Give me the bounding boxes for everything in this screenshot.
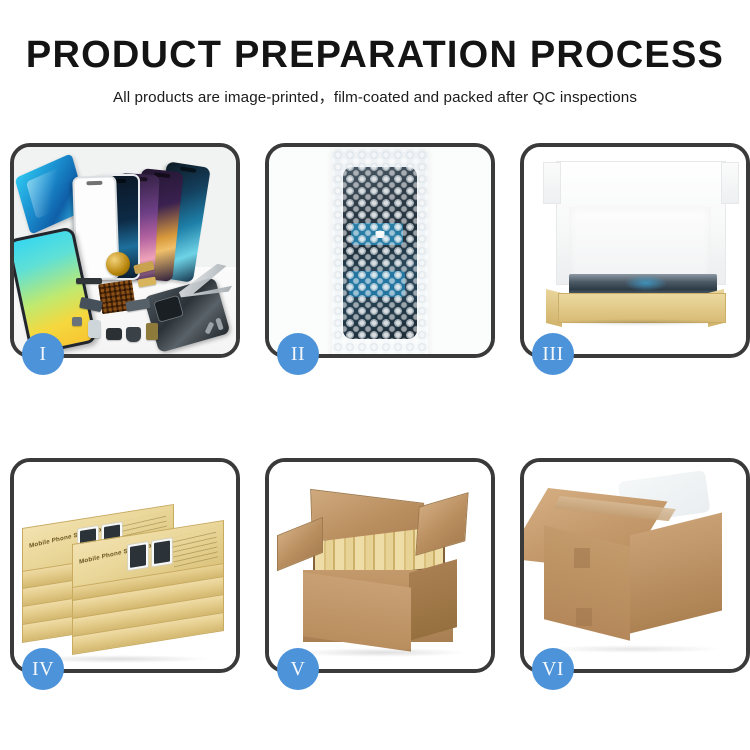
carton-side-panel: [409, 559, 457, 641]
step-2-image: [269, 147, 491, 354]
step-3-image: [524, 147, 746, 354]
step-panel-6: VI: [520, 458, 750, 673]
shield-plate-part: [72, 317, 82, 326]
step-1-image: [14, 147, 236, 354]
bubble-wrap-scene: [269, 147, 491, 354]
box-spec-list: [172, 528, 218, 568]
phone-notch: [180, 166, 196, 172]
step-badge-2: II: [277, 333, 319, 375]
step-panel-1: I: [10, 143, 240, 358]
page-subtitle: All products are image-printed，film-coat…: [0, 76, 750, 107]
step-panel-2: II: [265, 143, 495, 358]
carton-seam-lower: [576, 608, 592, 626]
inner-box-scene: [524, 147, 746, 354]
carton-seam-upper: [574, 548, 590, 568]
drop-shadow: [558, 319, 724, 326]
steps-grid: I II: [10, 143, 740, 673]
phone-screen-thumb: [130, 544, 146, 568]
speaker-part: [126, 327, 141, 342]
drop-shadow: [546, 645, 720, 653]
header: PRODUCT PREPARATION PROCESS All products…: [0, 0, 750, 107]
speaker-coil-icon: [106, 252, 130, 276]
drop-shadow: [297, 648, 465, 657]
step-badge-6: VI: [532, 648, 574, 690]
bubble-wrap-texture: [332, 149, 428, 354]
phone-screen-thumb: [154, 541, 170, 565]
page-title: PRODUCT PREPARATION PROCESS: [0, 0, 750, 76]
battery-part: [88, 320, 101, 338]
step-panel-3: III: [520, 143, 750, 358]
step-5-image: [269, 462, 491, 669]
carton-flap-right: [415, 492, 468, 556]
step-badge-5: V: [277, 648, 319, 690]
step-4-image: Mobile Phone Spare Parts Mobile Phone Sp…: [14, 462, 236, 669]
box-stack-scene: Mobile Phone Spare Parts Mobile Phone Sp…: [14, 462, 236, 669]
step-badge-1: I: [22, 333, 64, 375]
step-panel-5: V: [265, 458, 495, 673]
phone-parts-scene: [14, 147, 236, 354]
phone-notch: [86, 181, 102, 186]
flex-cable-part: [76, 278, 102, 284]
step-badge-4: IV: [22, 648, 64, 690]
step-panel-4: Mobile Phone Spare Parts Mobile Phone Sp…: [10, 458, 240, 673]
open-carton-scene: [269, 462, 491, 669]
sim-tray-part: [146, 323, 158, 340]
step-badge-3: III: [532, 333, 574, 375]
foam-lining: [569, 207, 711, 281]
sealed-carton-scene: [524, 462, 746, 669]
box-phone-image: [127, 541, 149, 571]
box-phone-image: [151, 537, 173, 567]
product-preparation-infographic: PRODUCT PREPARATION PROCESS All products…: [0, 0, 750, 750]
step-6-image: [524, 462, 746, 669]
camera-module-part: [106, 328, 122, 340]
